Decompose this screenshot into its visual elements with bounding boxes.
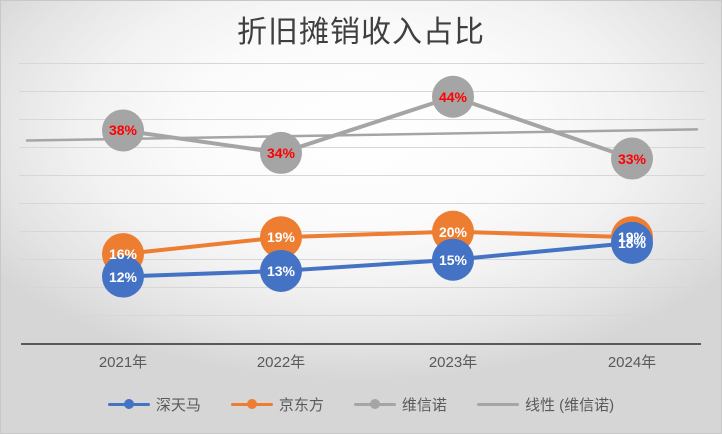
x-axis-tick-label: 2023年 [429, 351, 477, 372]
chart-container: 折旧摊销收入占比 38%34%44%33%16%19%20%19%12%13%1… [0, 0, 722, 434]
data-point[interactable] [102, 109, 144, 151]
legend-marker-icon [108, 398, 150, 410]
legend-item-0[interactable]: 深天马 [108, 394, 201, 415]
data-point[interactable] [260, 250, 302, 292]
legend-marker-icon [231, 398, 273, 410]
plot-area: 38%34%44%33%16%19%20%19%12%13%15%18% [19, 63, 705, 344]
data-point[interactable] [432, 76, 474, 118]
data-point[interactable] [260, 132, 302, 174]
legend-marker-icon [477, 398, 519, 410]
data-point[interactable] [611, 138, 653, 180]
legend-item-3[interactable]: 线性 (维信诺) [477, 394, 614, 415]
chart-legend: 深天马京东方维信诺线性 (维信诺) [1, 389, 721, 419]
legend-item-1[interactable]: 京东方 [231, 394, 324, 415]
series-line-2 [123, 97, 632, 159]
x-axis-labels: 2021年2022年2023年2024年 [19, 351, 703, 377]
x-axis-line [21, 343, 701, 345]
data-point[interactable] [102, 256, 144, 298]
x-axis-tick-label: 2021年 [99, 351, 147, 372]
legend-label: 深天马 [156, 394, 201, 415]
legend-label: 线性 (维信诺) [525, 394, 614, 415]
x-axis-tick-label: 2022年 [257, 351, 305, 372]
legend-marker-icon [354, 398, 396, 410]
x-axis-tick-label: 2024年 [608, 351, 656, 372]
series-plot [19, 63, 705, 344]
data-point[interactable] [432, 239, 474, 281]
legend-item-2[interactable]: 维信诺 [354, 394, 447, 415]
chart-title: 折旧摊销收入占比 [1, 15, 721, 51]
data-point[interactable] [611, 222, 653, 264]
legend-label: 京东方 [279, 394, 324, 415]
legend-label: 维信诺 [402, 394, 447, 415]
